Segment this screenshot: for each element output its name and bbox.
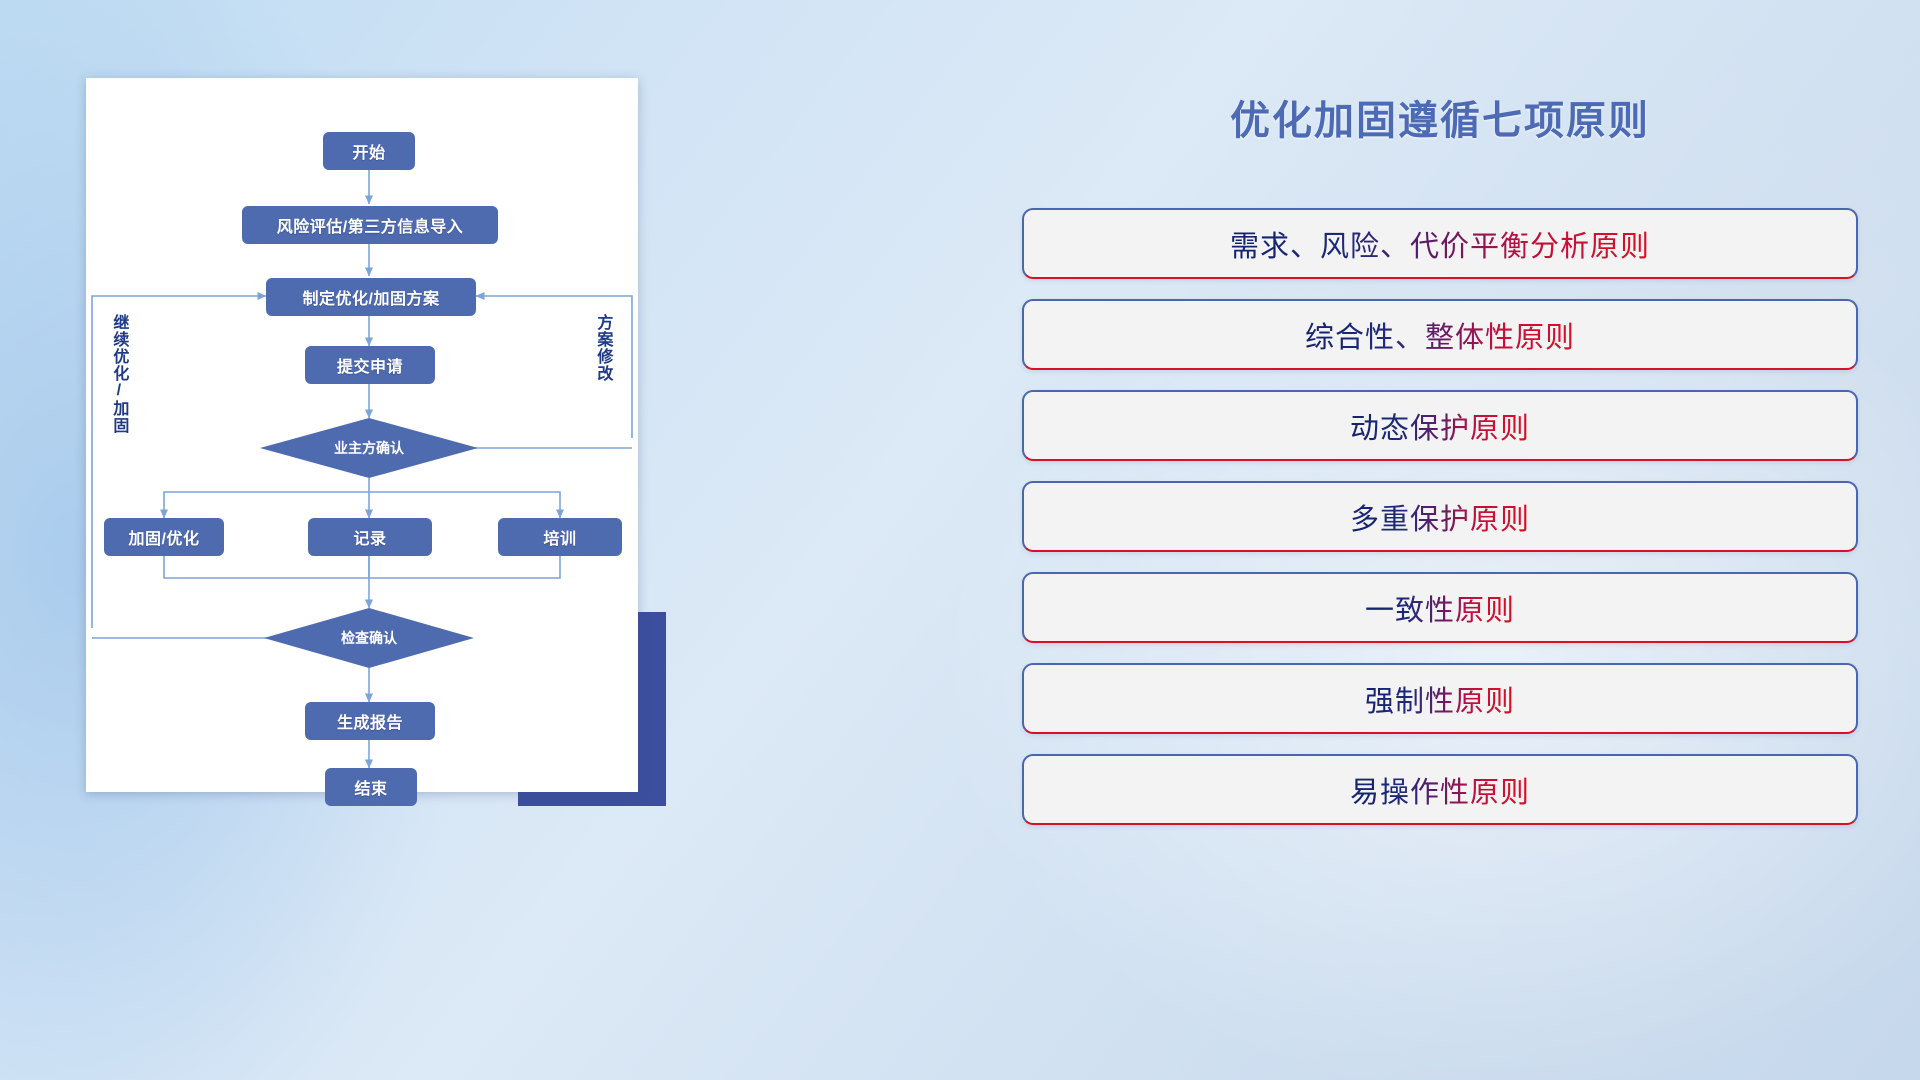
slide-canvas: 开始 风险评估/第三方信息导入 制定优化/加固方案 提交申请 业主方确认 加固/… — [0, 0, 1920, 1080]
flow-node-label: 风险评估/第三方信息导入 — [277, 213, 463, 237]
principle-card-7[interactable]: 易操作性原则 — [1022, 754, 1858, 825]
principle-card-3[interactable]: 动态保护原则 — [1022, 390, 1858, 461]
flow-node-label: 提交申请 — [337, 353, 403, 377]
flow-node-label: 结束 — [354, 775, 387, 799]
flow-node-risk-assessment[interactable]: 风险评估/第三方信息导入 — [242, 206, 498, 244]
flow-node-label: 制定优化/加固方案 — [303, 285, 440, 309]
principle-label: 多重保护原则 — [1350, 496, 1530, 538]
flow-node-label: 检查确认 — [341, 628, 397, 648]
principle-label: 强制性原则 — [1365, 678, 1515, 720]
flow-node-generate-report[interactable]: 生成报告 — [305, 702, 435, 740]
principle-card-4[interactable]: 多重保护原则 — [1022, 481, 1858, 552]
flow-node-submit[interactable]: 提交申请 — [305, 346, 435, 384]
flow-node-label: 业主方确认 — [334, 438, 404, 458]
edge-label-continue-optimize: 继续优化/加固 — [110, 314, 126, 434]
flow-node-end[interactable]: 结束 — [325, 768, 417, 806]
principle-label: 动态保护原则 — [1350, 405, 1530, 447]
principles-list: 需求、风险、代价平衡分析原则 综合性、整体性原则 动态保护原则 多重保护原则 一… — [1022, 208, 1858, 825]
principles-title: 优化加固遵循七项原则 — [960, 88, 1920, 146]
principle-label: 综合性、整体性原则 — [1305, 314, 1575, 356]
flow-node-plan[interactable]: 制定优化/加固方案 — [266, 278, 476, 316]
flow-node-label: 生成报告 — [337, 709, 403, 733]
edge-label-plan-revision: 方案修改 — [594, 314, 610, 382]
principle-label: 易操作性原则 — [1350, 769, 1530, 811]
principle-card-6[interactable]: 强制性原则 — [1022, 663, 1858, 734]
flow-node-record[interactable]: 记录 — [308, 518, 432, 556]
flow-node-start[interactable]: 开始 — [323, 132, 415, 170]
flow-node-label: 开始 — [352, 139, 385, 163]
flowchart-panel: 开始 风险评估/第三方信息导入 制定优化/加固方案 提交申请 业主方确认 加固/… — [86, 78, 638, 792]
principle-card-1[interactable]: 需求、风险、代价平衡分析原则 — [1022, 208, 1858, 279]
principle-card-5[interactable]: 一致性原则 — [1022, 572, 1858, 643]
flow-node-label: 培训 — [543, 525, 576, 549]
principle-label: 需求、风险、代价平衡分析原则 — [1230, 223, 1650, 265]
principle-card-2[interactable]: 综合性、整体性原则 — [1022, 299, 1858, 370]
principles-panel: 优化加固遵循七项原则 需求、风险、代价平衡分析原则 综合性、整体性原则 动态保护… — [960, 0, 1920, 1080]
flow-node-training[interactable]: 培训 — [498, 518, 622, 556]
flow-node-reinforce[interactable]: 加固/优化 — [104, 518, 224, 556]
flow-node-label: 记录 — [353, 525, 386, 549]
principle-label: 一致性原则 — [1365, 587, 1515, 629]
flow-node-label: 加固/优化 — [129, 525, 200, 549]
flowchart-sheet: 开始 风险评估/第三方信息导入 制定优化/加固方案 提交申请 业主方确认 加固/… — [86, 78, 638, 792]
